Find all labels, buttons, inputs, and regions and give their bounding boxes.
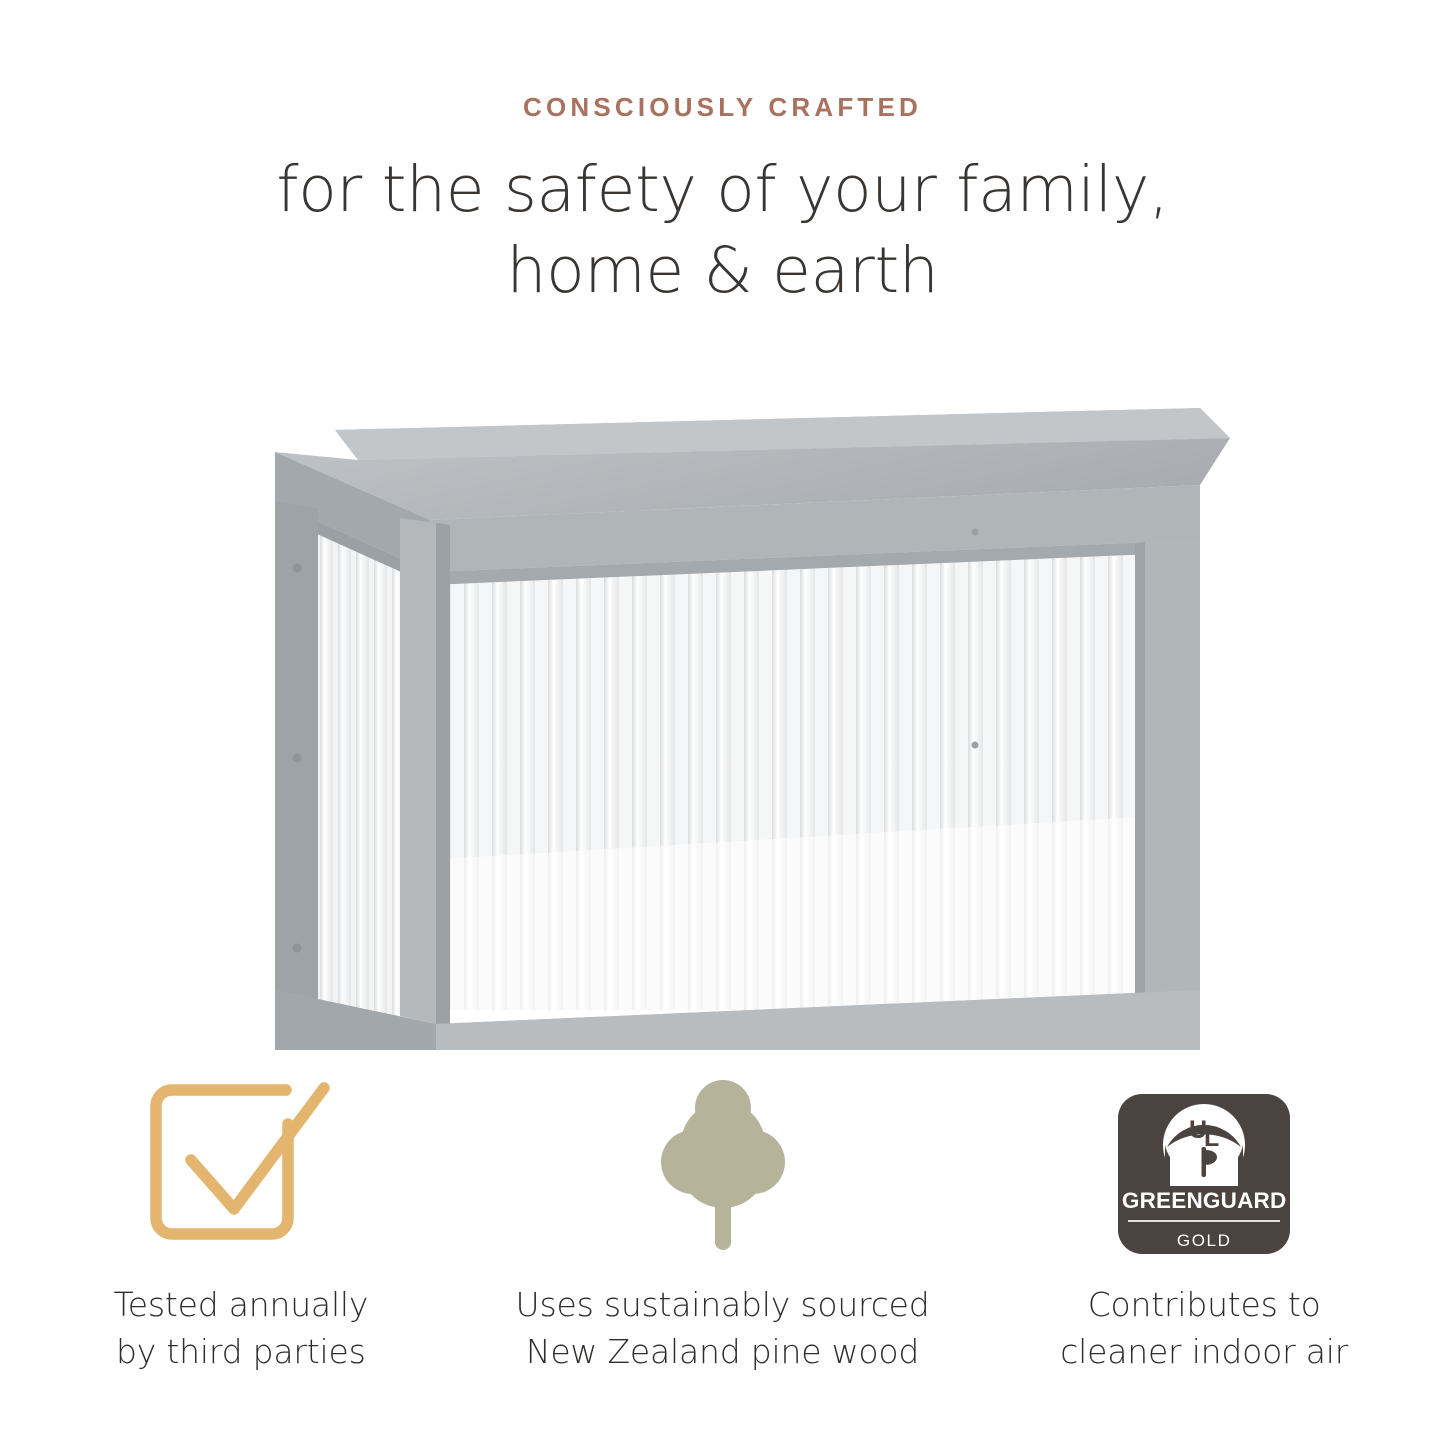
feature-row: Tested annually by third parties — [0, 1078, 1445, 1418]
feature-caption: Contributes to cleaner indoor air — [1060, 1282, 1348, 1376]
eyebrow-text: CONSCIOUSLY CRAFTED — [0, 92, 1445, 123]
greenguard-gold-badge: U L GREENGUARD — [1104, 1078, 1304, 1254]
screw-cap-icon — [293, 754, 302, 763]
checkbox-check-icon — [141, 1078, 341, 1254]
crib-post-front-left — [400, 518, 436, 1024]
greenguard-badge-box: U L GREENGUARD — [1118, 1094, 1290, 1254]
feature-tested-annually: Tested annually by third parties — [0, 1078, 482, 1418]
feature-sustainable-wood: Uses sustainably sourced New Zealand pin… — [482, 1078, 964, 1418]
feature-caption: Uses sustainably sourced New Zealand pin… — [516, 1282, 930, 1376]
ul-mark-icon: U L — [1162, 1103, 1246, 1187]
page-title: for the safety of your family, home & ea… — [0, 150, 1445, 311]
checkbox-check-glyph — [146, 1078, 336, 1254]
headline-line-1: for the safety of your family, — [0, 150, 1445, 231]
marketing-graphic: CONSCIOUSLY CRAFTED for the safety of yo… — [0, 0, 1445, 1445]
tree-icon — [623, 1078, 823, 1254]
headline-line-2: home & earth — [0, 231, 1445, 312]
feature-greenguard: U L GREENGUARD — [963, 1078, 1445, 1418]
crib-post-front-right-edge — [1135, 542, 1145, 1009]
greenguard-level: GOLD — [1177, 1231, 1232, 1251]
screw-cap-icon — [293, 944, 302, 953]
product-image-crib — [240, 390, 1240, 1050]
screw-cap-icon — [293, 564, 302, 573]
feature-caption: Tested annually by third parties — [113, 1282, 368, 1376]
screw-cap-icon — [972, 742, 979, 749]
crib-post-left-rear — [275, 502, 318, 1002]
crib-post-front-right — [1145, 540, 1200, 1008]
badge-divider — [1128, 1220, 1280, 1222]
tree-glyph — [648, 1078, 798, 1254]
crib-illustration — [240, 390, 1240, 1050]
crib-post-front-left-edge — [436, 523, 450, 1026]
greenguard-title: GREENGUARD — [1122, 1188, 1287, 1214]
screw-cap-icon — [972, 529, 979, 536]
